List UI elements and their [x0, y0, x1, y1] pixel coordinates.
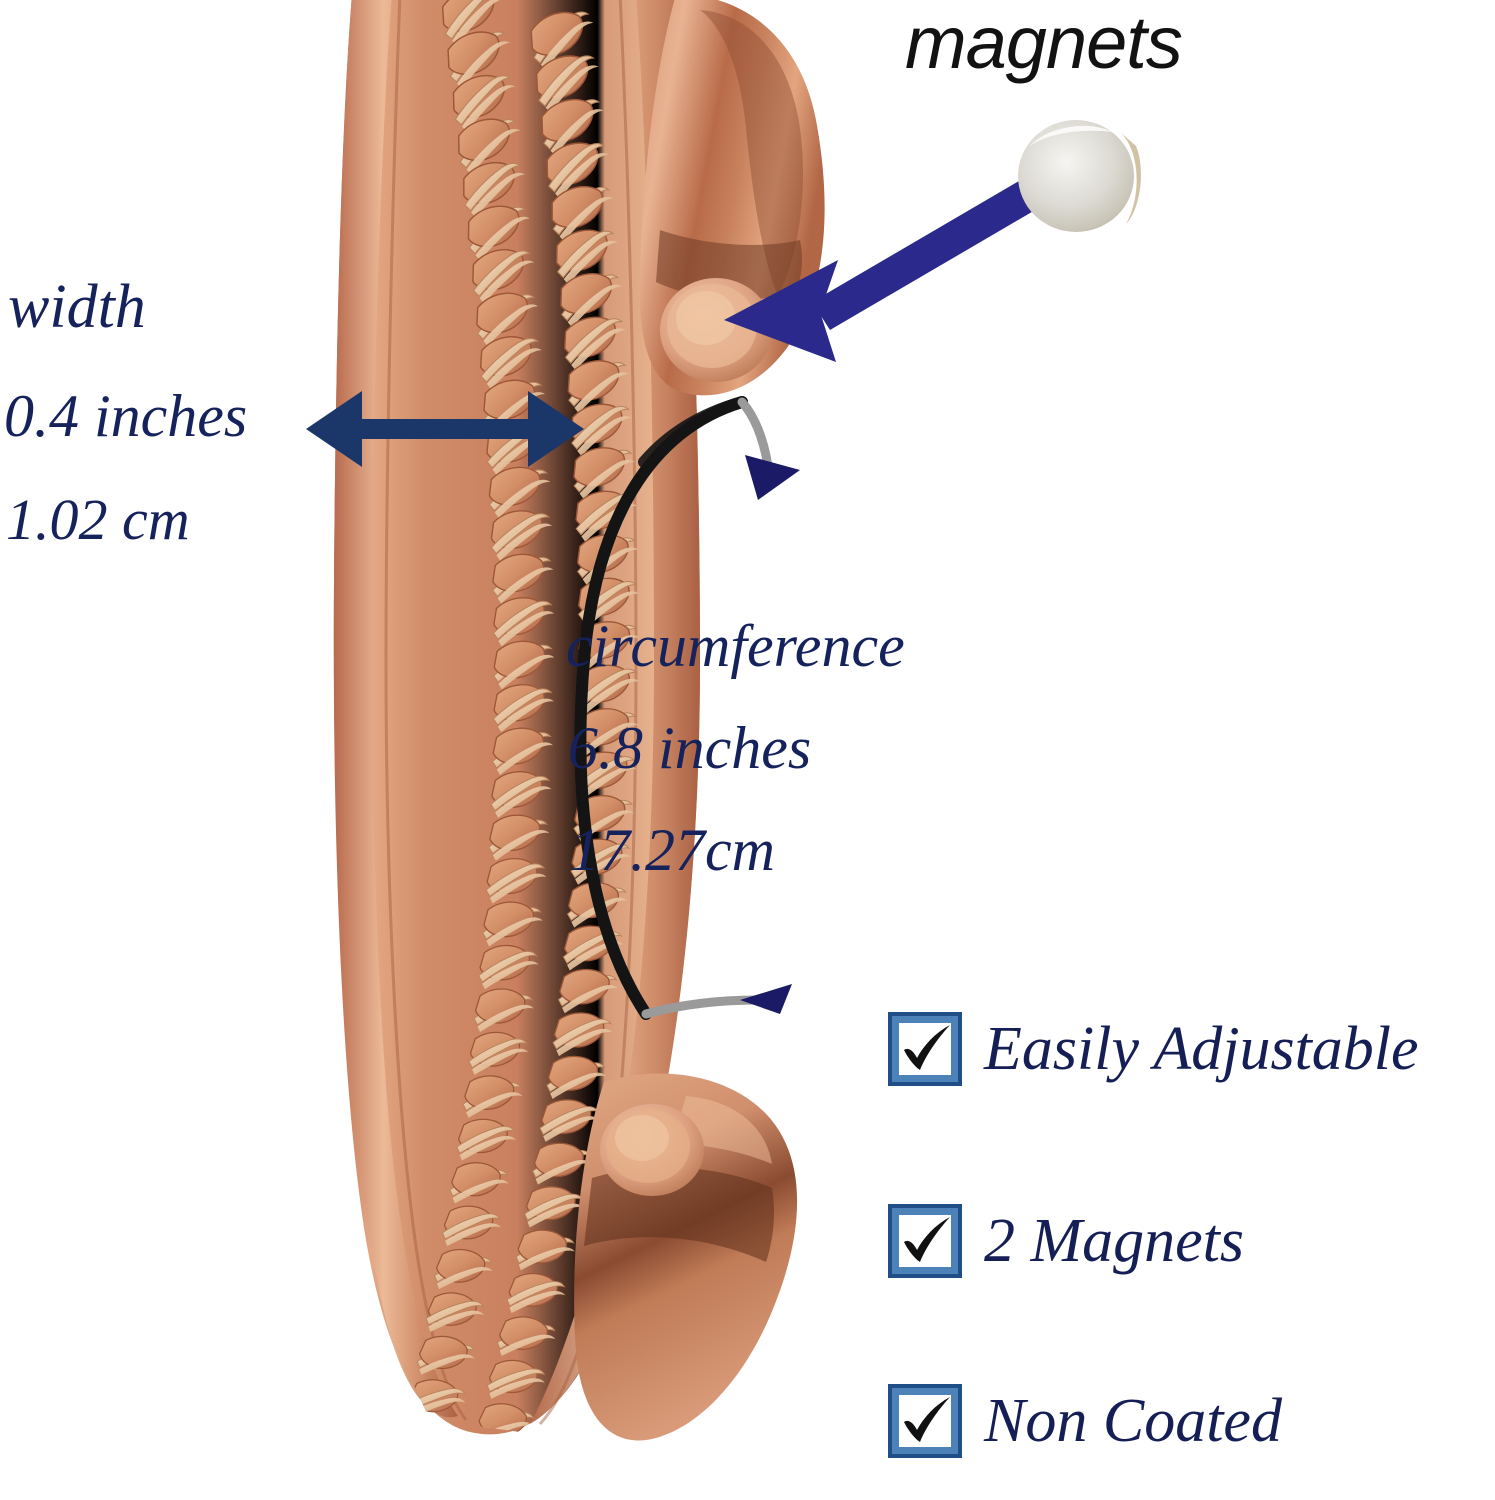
- circumference-value-cm: 17.27cm: [570, 816, 775, 885]
- arc-arrowhead-bottom: [740, 984, 792, 1014]
- feature-label: 2 Magnets: [984, 1206, 1244, 1277]
- circumference-value-inches: 6.8 inches: [568, 714, 811, 783]
- checkbox-checked-icon[interactable]: [888, 1012, 962, 1086]
- checkmark-icon: [892, 1206, 962, 1276]
- arc-arrowhead-top: [745, 455, 800, 500]
- infographic-canvas: width 0.4 inches 1.02 cm circumference 6…: [0, 0, 1495, 1500]
- magnets-label: magnets: [905, 0, 1182, 85]
- checkbox-checked-icon[interactable]: [888, 1204, 962, 1278]
- feature-row-non-coated[interactable]: Non Coated: [888, 1384, 1282, 1458]
- feature-label: Non Coated: [984, 1386, 1282, 1457]
- feature-label: Easily Adjustable: [984, 1014, 1419, 1085]
- magnet-disc-icon: [1018, 120, 1141, 232]
- checkbox-checked-icon[interactable]: [888, 1384, 962, 1458]
- feature-row-2-magnets[interactable]: 2 Magnets: [888, 1204, 1244, 1278]
- feature-row-easily-adjustable[interactable]: Easily Adjustable: [888, 1012, 1419, 1086]
- width-value-cm: 1.02 cm: [6, 486, 190, 553]
- width-value-inches: 0.4 inches: [4, 382, 247, 451]
- circumference-label: circumference: [566, 612, 905, 681]
- bottom-terminal-cap: [574, 1073, 797, 1440]
- checkmark-icon: [892, 1014, 962, 1084]
- width-label: width: [8, 272, 146, 343]
- checkmark-icon: [892, 1386, 962, 1456]
